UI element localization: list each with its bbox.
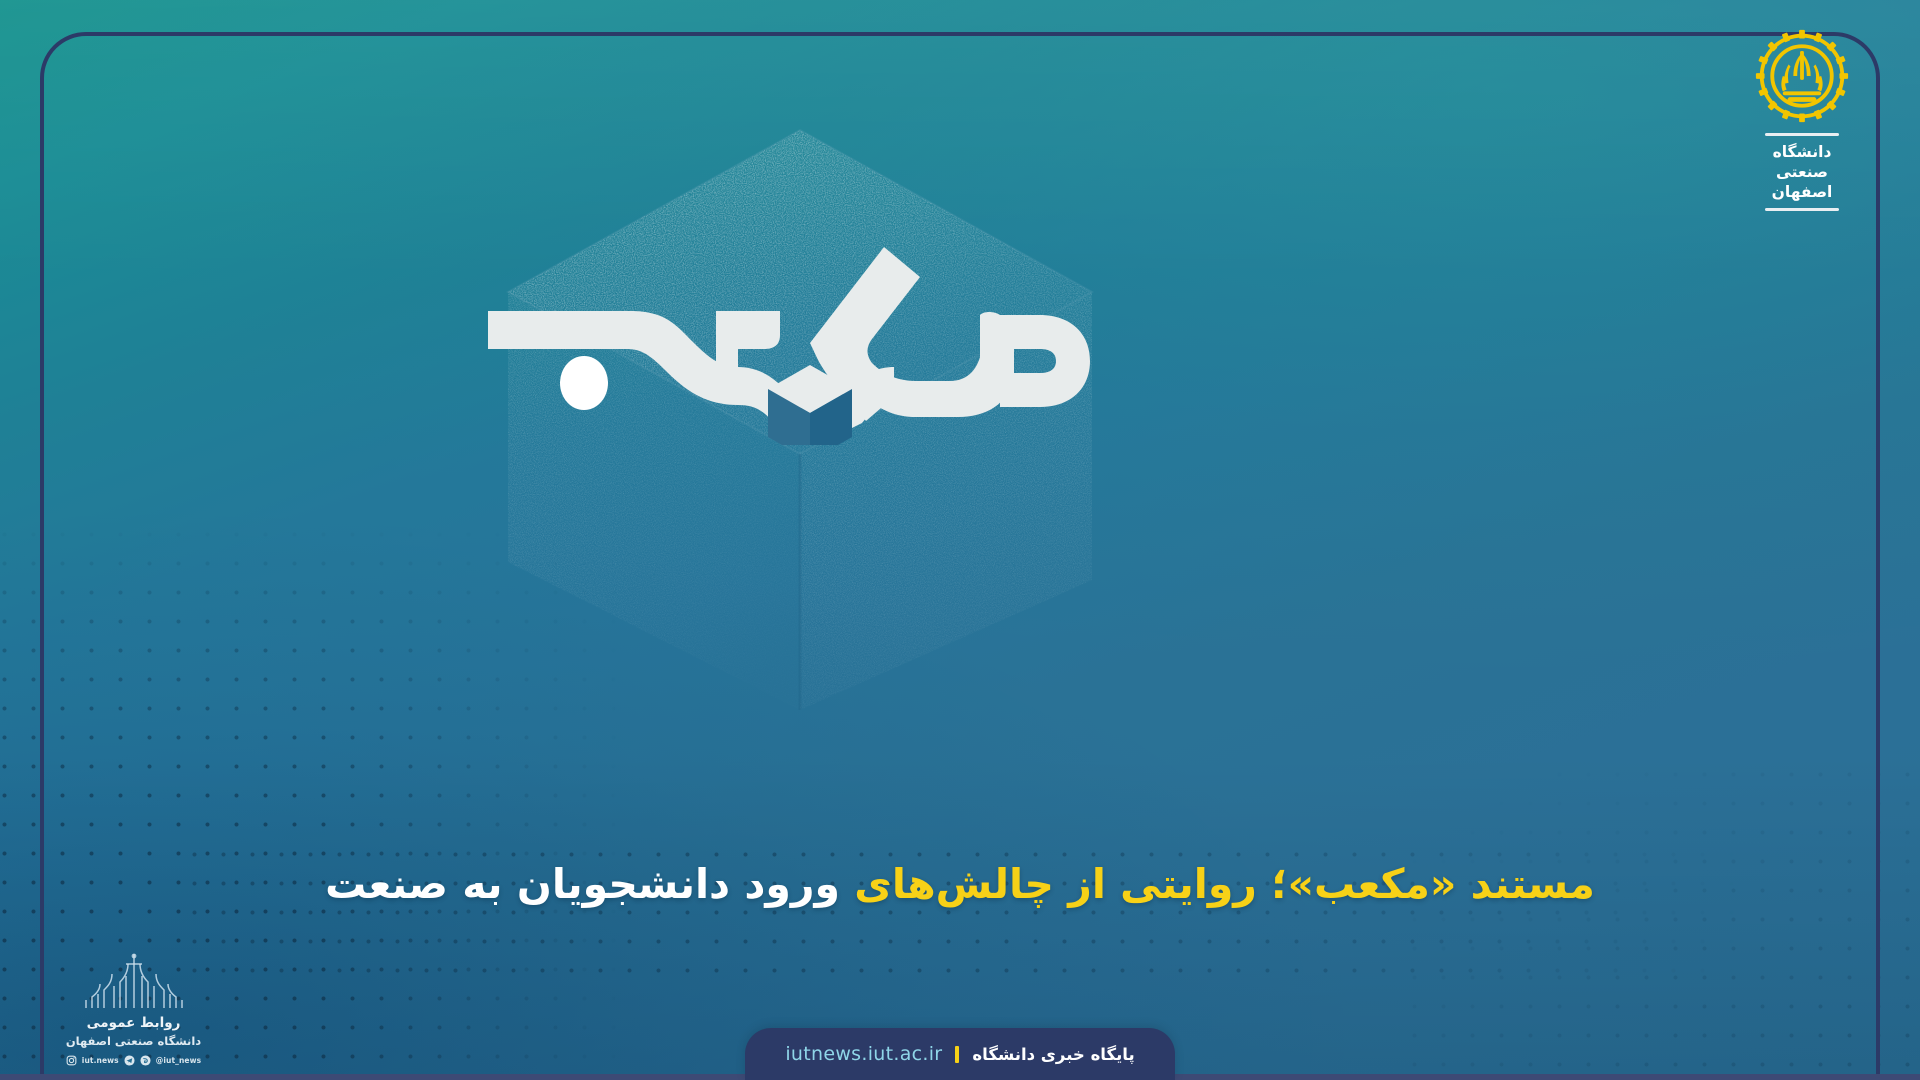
eitaa-icon[interactable] [140, 1055, 151, 1066]
university-seal-icon [1754, 28, 1850, 124]
instagram-icon[interactable] [66, 1055, 77, 1066]
university-name-line3: اصفهان [1772, 182, 1833, 202]
makab-wordmark [480, 215, 1110, 445]
logo-divider-top [1765, 133, 1839, 136]
headline-highlight: مستند «مکعب»؛ روایتی از چالش‌های [854, 860, 1595, 908]
pr-title: روابط عمومی [87, 1015, 181, 1032]
footer-label: پایگاه خبری دانشگاه [972, 1045, 1134, 1064]
university-name-line2: صنعتی [1776, 162, 1828, 182]
footer-bar: پایگاه خبری دانشگاه iutnews.iut.ac.ir [745, 1028, 1175, 1080]
pr-subtitle: دانشگاه صنعتی اصفهان [66, 1034, 201, 1049]
university-logo: دانشگاه صنعتی اصفهان [1736, 28, 1868, 236]
pr-social-row: iut.news @iut_news [66, 1055, 201, 1066]
footer-separator [955, 1046, 959, 1063]
headline-plain: ورود دانشجویان به صنعت [325, 860, 840, 908]
telegram-icon[interactable] [124, 1055, 135, 1066]
footer-url[interactable]: iutnews.iut.ac.ir [785, 1043, 942, 1065]
poster-canvas: دانشگاه صنعتی اصفهان مستند «مکعب»؛ روایت… [0, 0, 1920, 1080]
eitaa-handle: @iut_news [156, 1056, 201, 1065]
page-title: مستند «مکعب»؛ روایتی از چالش‌های ورود دا… [150, 855, 1770, 914]
logo-divider-bottom [1765, 208, 1839, 211]
university-name-line1: دانشگاه [1773, 142, 1832, 162]
instagram-handle: iut.news [82, 1056, 119, 1065]
public-relations-badge: روابط عمومی دانشگاه صنعتی اصفهان iut.new… [46, 948, 221, 1066]
skyline-mark-icon [78, 952, 190, 1010]
